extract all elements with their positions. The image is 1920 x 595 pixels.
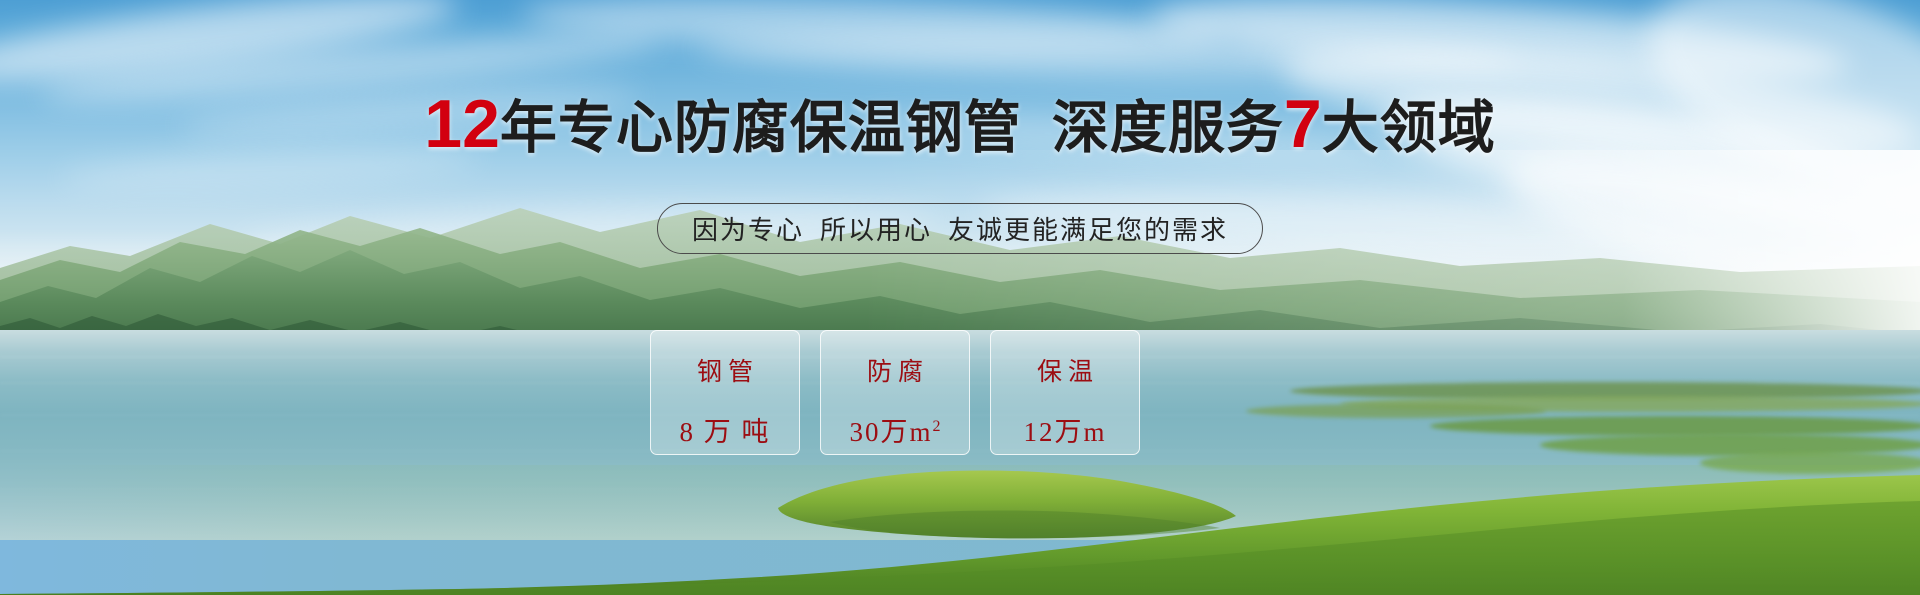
stat-card-anticorrosion: 防腐 30万m2 [820,330,970,455]
stat-card-value: 12万m [1023,410,1106,449]
stat-card-insulation: 保温 12万m [990,330,1140,455]
stat-card-title: 保温 [1031,352,1099,388]
headline-part2: 深度服务 [1052,96,1284,160]
subtitle-segment-3: 友诚更能满足您的需求 [948,210,1228,247]
stats-card-group: 钢管 8 万 吨 防腐 30万m2 保温 12万m [650,330,1140,455]
headline-part1: 年专心防腐保温钢管 [500,96,1022,160]
subtitle-segment-2: 所以用心 [820,210,932,247]
page-title: 12年专心防腐保温钢管深度服务7大领域 [0,92,1920,160]
stat-value-superscript: 2 [933,418,941,435]
stat-card-steel-pipe: 钢管 8 万 吨 [650,330,800,455]
stat-card-value: 30万m2 [849,410,940,449]
headline-number-years: 12 [424,86,500,162]
stat-value-main: 12万m [1023,417,1106,447]
stat-card-value: 8 万 吨 [680,410,771,449]
subtitle-pill: 因为专心所以用心友诚更能满足您的需求 [657,203,1263,254]
stat-card-title: 防腐 [861,352,929,388]
stat-value-main: 30万m [849,417,932,447]
stat-card-title: 钢管 [691,352,759,388]
hero-banner: 12年专心防腐保温钢管深度服务7大领域 因为专心所以用心友诚更能满足您的需求 钢… [0,0,1920,595]
headline-part3: 大领域 [1322,96,1496,160]
subtitle-segment-1: 因为专心 [692,210,804,247]
text-overlay: 12年专心防腐保温钢管深度服务7大领域 因为专心所以用心友诚更能满足您的需求 钢… [0,0,1920,595]
headline-number-fields: 7 [1284,86,1322,162]
stat-value-main: 8 万 吨 [680,417,771,447]
